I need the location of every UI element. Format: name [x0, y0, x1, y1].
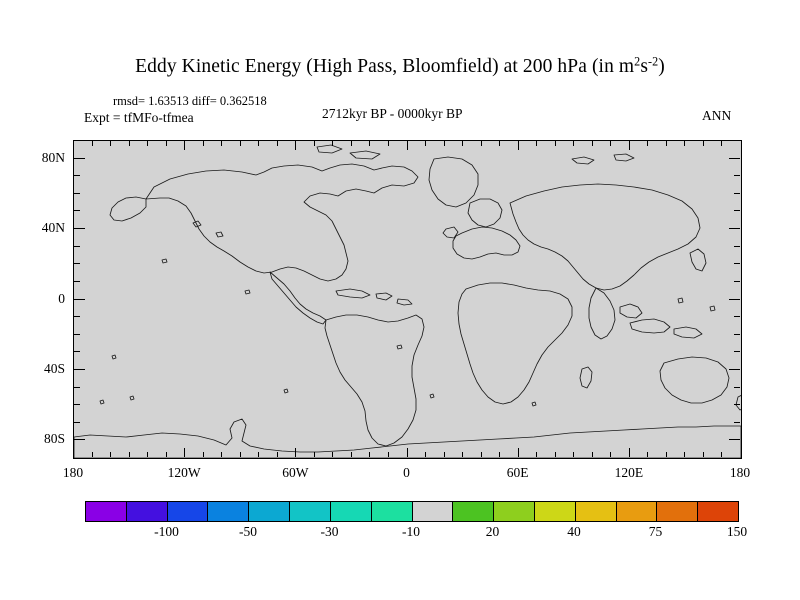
- lon-tick-bottom: [258, 452, 259, 457]
- lon-tick-bottom: [536, 452, 537, 457]
- longitude-tick-label: 60E: [507, 465, 529, 481]
- lon-tick-bottom: [277, 452, 278, 457]
- lon-tick-bottom: [388, 452, 389, 457]
- colorbar-cell[interactable]: [208, 502, 249, 521]
- season-annotation: ANN: [702, 108, 731, 124]
- colorbar-cell[interactable]: [453, 502, 494, 521]
- lat-tick-right: [734, 422, 740, 423]
- lon-tick-top: [684, 141, 685, 146]
- lon-tick-bottom: [481, 452, 482, 457]
- longitude-tick-label: 180: [63, 465, 83, 481]
- colorbar-tick-label: 20: [486, 524, 500, 540]
- longitude-tick-label: 120E: [615, 465, 644, 481]
- colorbar-cell[interactable]: [657, 502, 698, 521]
- longitude-tick-label: 120W: [168, 465, 201, 481]
- lon-tick-top: [462, 141, 463, 146]
- chart-title-suffix: ): [658, 56, 665, 77]
- lon-tick-bottom: [518, 448, 519, 457]
- lon-tick-top: [481, 141, 482, 146]
- latitude-tick-label: 0: [15, 291, 65, 307]
- lon-tick-top: [221, 141, 222, 146]
- colorbar-cell[interactable]: [168, 502, 209, 521]
- lon-tick-top: [203, 141, 204, 146]
- lon-tick-bottom: [592, 452, 593, 457]
- lon-tick-top: [388, 141, 389, 146]
- lon-tick-top: [536, 141, 537, 146]
- lon-tick-bottom: [110, 452, 111, 457]
- lon-tick-top: [555, 141, 556, 146]
- lon-tick-top: [147, 141, 148, 146]
- lat-tick-left: [74, 387, 80, 388]
- lat-tick-right: [729, 158, 740, 159]
- lon-tick-top: [110, 141, 111, 146]
- lat-tick-left: [74, 351, 80, 352]
- lon-tick-top: [332, 141, 333, 146]
- lat-tick-right: [734, 193, 740, 194]
- lon-tick-top: [518, 141, 519, 150]
- lon-tick-bottom: [184, 448, 185, 457]
- lon-tick-bottom: [721, 452, 722, 457]
- lon-tick-top: [499, 141, 500, 146]
- lon-tick-top: [314, 141, 315, 146]
- lon-tick-bottom: [444, 452, 445, 457]
- lon-tick-bottom: [166, 452, 167, 457]
- colorbar-tick-label: -50: [239, 524, 257, 540]
- colorbar-cell[interactable]: [494, 502, 535, 521]
- chart-title-mid: s: [640, 56, 648, 77]
- longitude-tick-label: 180: [730, 465, 750, 481]
- lon-tick-bottom: [425, 452, 426, 457]
- lon-tick-top: [573, 141, 574, 146]
- lon-tick-bottom: [629, 448, 630, 457]
- colorbar-tick-label: -30: [321, 524, 339, 540]
- lat-tick-right: [734, 281, 740, 282]
- map-plot-area: [73, 140, 742, 459]
- lat-tick-left: [74, 210, 80, 211]
- lon-tick-top: [166, 141, 167, 146]
- colorbar-tick-label: -100: [154, 524, 179, 540]
- colorbar-cell[interactable]: [86, 502, 127, 521]
- latitude-tick-label: 80S: [15, 431, 65, 447]
- colorbar[interactable]: [85, 501, 739, 522]
- latitude-tick-label: 40S: [15, 361, 65, 377]
- colorbar-cell[interactable]: [617, 502, 658, 521]
- rmsd-annotation: rmsd= 1.63513 diff= 0.362518: [113, 94, 267, 109]
- chart-title: Eddy Kinetic Energy (High Pass, Bloomfie…: [0, 56, 800, 78]
- chart-title-superscript-2: -2: [648, 55, 658, 69]
- colorbar-tick-label: 75: [649, 524, 663, 540]
- lat-tick-right: [729, 369, 740, 370]
- colorbar-cell[interactable]: [249, 502, 290, 521]
- lon-tick-top: [721, 141, 722, 146]
- lon-tick-top: [277, 141, 278, 146]
- lon-tick-bottom: [314, 452, 315, 457]
- latitude-tick-label: 40N: [15, 220, 65, 236]
- lat-tick-right: [729, 228, 740, 229]
- lon-tick-top: [592, 141, 593, 146]
- lon-tick-bottom: [684, 452, 685, 457]
- lat-tick-right: [734, 210, 740, 211]
- latitude-tick-label: 80N: [15, 150, 65, 166]
- world-coastline-map: [74, 141, 741, 458]
- lon-tick-top: [351, 141, 352, 146]
- lon-tick-top: [666, 141, 667, 146]
- lon-tick-bottom: [369, 452, 370, 457]
- lat-tick-left: [74, 404, 80, 405]
- colorbar-tick-label: -10: [402, 524, 420, 540]
- lon-tick-bottom: [351, 452, 352, 457]
- lat-tick-left: [74, 281, 80, 282]
- lon-tick-bottom: [647, 452, 648, 457]
- lon-tick-bottom: [221, 452, 222, 457]
- lat-tick-left: [74, 246, 80, 247]
- lon-tick-top: [129, 141, 130, 146]
- lat-tick-right: [734, 334, 740, 335]
- lon-tick-bottom: [295, 448, 296, 457]
- lat-tick-right: [734, 316, 740, 317]
- period-annotation: 2712kyr BP - 0000kyr BP: [322, 106, 463, 122]
- colorbar-tick-label: 40: [567, 524, 581, 540]
- lon-tick-bottom: [499, 452, 500, 457]
- lon-tick-bottom: [332, 452, 333, 457]
- lon-tick-bottom: [666, 452, 667, 457]
- experiment-annotation: Expt = tfMFo-tfmea: [84, 110, 194, 126]
- lat-tick-left: [74, 422, 80, 423]
- colorbar-tick-label: 150: [727, 524, 747, 540]
- lat-tick-left: [74, 369, 85, 370]
- lon-tick-top: [184, 141, 185, 150]
- colorbar-cell[interactable]: [290, 502, 331, 521]
- lat-tick-left: [74, 439, 85, 440]
- lon-tick-bottom: [610, 452, 611, 457]
- lon-tick-top: [703, 141, 704, 146]
- lon-tick-top: [258, 141, 259, 146]
- colorbar-cell[interactable]: [372, 502, 413, 521]
- lat-tick-left: [74, 158, 85, 159]
- lon-tick-bottom: [92, 452, 93, 457]
- lat-tick-right: [734, 175, 740, 176]
- lon-tick-bottom: [573, 452, 574, 457]
- colorbar-cell[interactable]: [535, 502, 576, 521]
- lon-tick-bottom: [147, 452, 148, 457]
- lat-tick-left: [74, 175, 80, 176]
- lon-tick-top: [647, 141, 648, 146]
- lat-tick-left: [74, 263, 80, 264]
- lat-tick-left: [74, 193, 80, 194]
- colorbar-cell[interactable]: [698, 502, 738, 521]
- lon-tick-bottom: [240, 452, 241, 457]
- lat-tick-right: [734, 404, 740, 405]
- lon-tick-top: [295, 141, 296, 150]
- lon-tick-bottom: [555, 452, 556, 457]
- lat-tick-right: [729, 299, 740, 300]
- lon-tick-bottom: [703, 452, 704, 457]
- lon-tick-top: [369, 141, 370, 146]
- lon-tick-top: [92, 141, 93, 146]
- longitude-tick-label: 0: [403, 465, 410, 481]
- lon-tick-top: [444, 141, 445, 146]
- lat-tick-right: [734, 263, 740, 264]
- colorbar-cell[interactable]: [127, 502, 168, 521]
- lon-tick-bottom: [462, 452, 463, 457]
- colorbar-cell[interactable]: [576, 502, 617, 521]
- longitude-tick-label: 60W: [282, 465, 308, 481]
- lon-tick-top: [240, 141, 241, 146]
- lat-tick-left: [74, 316, 80, 317]
- colorbar-cell[interactable]: [331, 502, 372, 521]
- lon-tick-bottom: [203, 452, 204, 457]
- lat-tick-left: [74, 334, 80, 335]
- lon-tick-top: [610, 141, 611, 146]
- colorbar-cell[interactable]: [413, 502, 454, 521]
- lat-tick-right: [734, 246, 740, 247]
- lon-tick-bottom: [129, 452, 130, 457]
- lon-tick-bottom: [407, 448, 408, 457]
- chart-title-prefix: Eddy Kinetic Energy (High Pass, Bloomfie…: [135, 56, 634, 77]
- lon-tick-top: [425, 141, 426, 146]
- lat-tick-left: [74, 228, 85, 229]
- lat-tick-left: [74, 299, 85, 300]
- lat-tick-right: [734, 387, 740, 388]
- lat-tick-right: [729, 439, 740, 440]
- lon-tick-top: [407, 141, 408, 150]
- lon-tick-top: [629, 141, 630, 150]
- lat-tick-right: [734, 351, 740, 352]
